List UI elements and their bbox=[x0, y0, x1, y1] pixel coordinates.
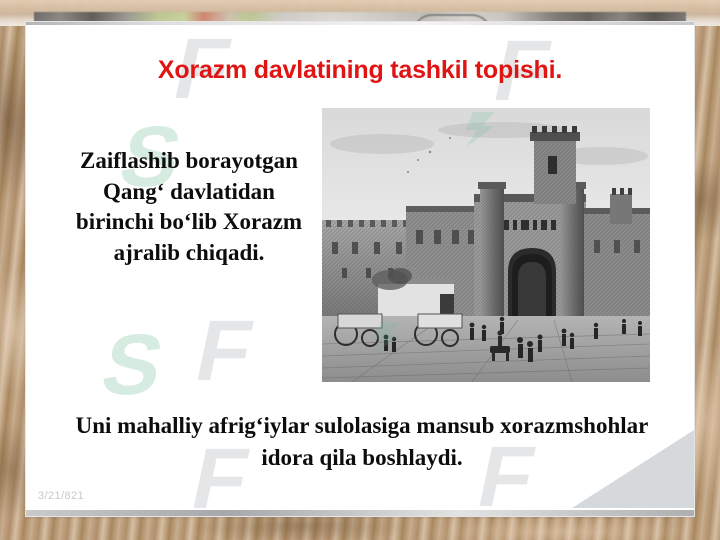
slide-page: S S S F F F F F Xorazm davlatining tashk… bbox=[26, 22, 694, 516]
slide-frame: S S S F F F F F Xorazm davlatining tashk… bbox=[0, 0, 720, 540]
fortress-gate-engraving-image bbox=[322, 108, 650, 382]
body-text-bottom: Uni mahalliy afrig‘iylar sulolasiga mans… bbox=[52, 410, 672, 473]
watermark-green-mid-left: S bbox=[95, 322, 171, 408]
page-bottom-rule bbox=[26, 510, 694, 516]
page-top-rule bbox=[26, 22, 694, 25]
body-text-left: Zaiflashib borayotgan Qang‘ davlatidan b… bbox=[62, 146, 316, 268]
slide-title: Xorazm davlatining tashkil topishi. bbox=[26, 56, 694, 85]
slide-timestamp: 3/21/821 bbox=[38, 490, 84, 502]
watermark-gray-mid: F bbox=[189, 308, 260, 394]
